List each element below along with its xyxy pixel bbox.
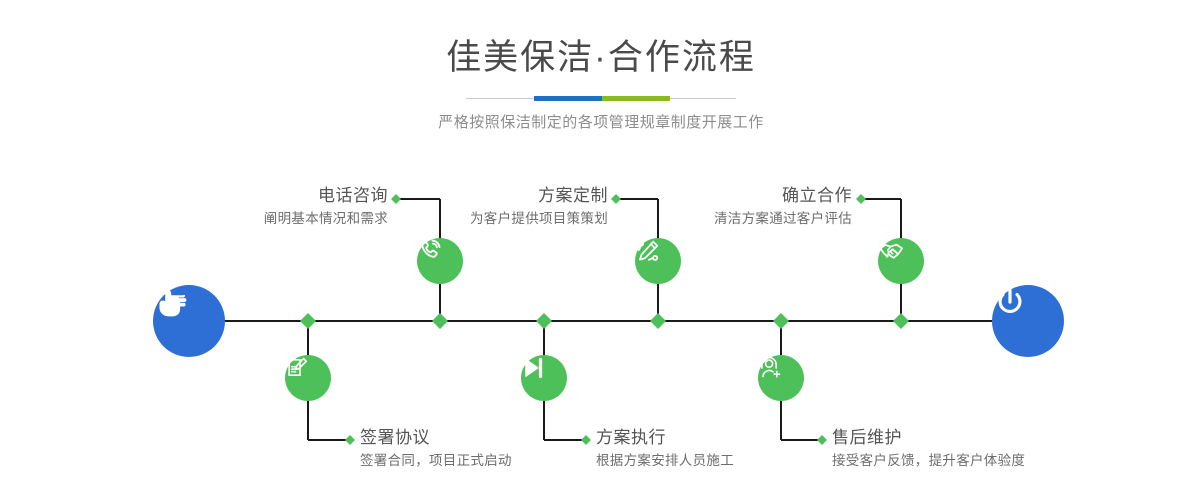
process-flow-diagram: 电话咨询 阐明基本情况和需求 方案定制 为客户提供项目策策划 确立合作 清洁方案… [0,0,1202,502]
flow-start-node[interactable] [153,285,225,357]
label-diamond-marker [345,435,355,445]
step-node-6[interactable] [758,355,804,401]
axis-diamond-marker [893,313,909,329]
step-node-5[interactable] [878,238,924,284]
step-desc-6: 接受客户反馈，提升客户体验度 [832,450,1025,472]
axis-diamond-marker [300,313,316,329]
axis-diamond-marker [432,313,448,329]
step-node-4[interactable] [521,355,567,401]
label-diamond-marker [856,194,866,204]
step-title-1: 电话咨询 [156,184,388,208]
step-node-1[interactable] [417,238,463,284]
step-title-6: 售后维护 [832,426,1025,450]
step-title-4: 方案执行 [596,426,734,450]
label-diamond-marker [581,435,591,445]
step-label-3: 方案定制 为客户提供项目策策划 [396,184,608,230]
step-node-2[interactable] [285,355,331,401]
step-title-2: 签署协议 [360,426,512,450]
step-desc-1: 阐明基本情况和需求 [156,208,388,230]
label-diamond-markers [345,194,866,445]
step-desc-4: 根据方案安排人员施工 [596,450,734,472]
axis-diamond-marker [650,313,666,329]
step-label-1: 电话咨询 阐明基本情况和需求 [156,184,388,230]
step-label-4: 方案执行 根据方案安排人员施工 [596,426,734,472]
step-label-5: 确立合作 清洁方案通过客户评估 [636,184,852,230]
axis-diamond-marker [536,313,552,329]
step-desc-3: 为客户提供项目策策划 [396,208,608,230]
flow-end-node[interactable] [992,285,1064,357]
step-desc-5: 清洁方案通过客户评估 [636,208,852,230]
step-label-6: 售后维护 接受客户反馈，提升客户体验度 [832,426,1025,472]
label-diamond-marker [817,435,827,445]
axis-diamond-marker [773,313,789,329]
step-desc-2: 签署合同，项目正式启动 [360,450,512,472]
step-title-3: 方案定制 [396,184,608,208]
step-label-2: 签署协议 签署合同，项目正式启动 [360,426,512,472]
label-diamond-marker [611,194,621,204]
step-node-3[interactable] [635,238,681,284]
step-title-5: 确立合作 [636,184,852,208]
cooperation-process-infographic: 佳美保洁·合作流程 严格按照保洁制定的各项管理规章制度开展工作 [0,0,1202,502]
